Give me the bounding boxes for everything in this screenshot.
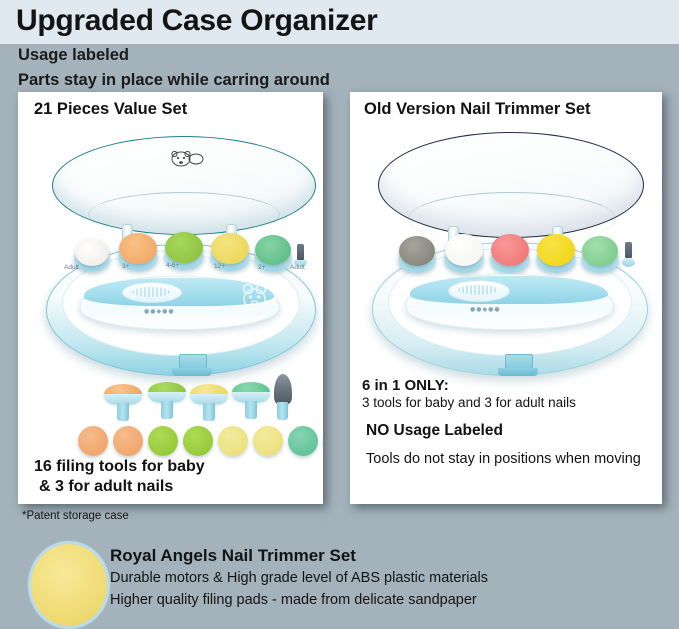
handpiece-brand-mark: ●●◆●● bbox=[144, 308, 175, 315]
right-caption-line-2: 3 tools for baby and 3 for adult nails bbox=[362, 395, 576, 410]
right-caption-line-3: NO Usage Labeled bbox=[366, 422, 503, 440]
pad-label-3: 12+ bbox=[214, 263, 225, 270]
right-caption-line-1: 6 in 1 ONLY: bbox=[362, 377, 449, 394]
handpiece-brand-mark: ●●◆●● bbox=[470, 306, 501, 313]
tray-pad-pink bbox=[491, 234, 529, 266]
tray-pad-white bbox=[445, 234, 483, 266]
left-caption-line-1: 16 filing tools for baby bbox=[34, 458, 205, 476]
page-title: Upgraded Case Organizer bbox=[16, 4, 378, 38]
banner-filing-pad bbox=[28, 541, 110, 629]
metal-bit bbox=[297, 244, 304, 260]
case-latch-tab bbox=[172, 368, 212, 376]
cone-bit-head bbox=[274, 374, 292, 404]
tool-stem bbox=[161, 401, 173, 419]
pad-label-4: 2+ bbox=[258, 264, 265, 271]
tray-pad-gray bbox=[399, 236, 435, 266]
button-grill bbox=[132, 287, 170, 297]
flat-pad-green-1 bbox=[148, 426, 178, 456]
old-version-case-illustration: ●●◆●● bbox=[350, 92, 662, 504]
subheader-line-2: Parts stay in place while carring around bbox=[18, 71, 330, 90]
flat-pad-yellow-1 bbox=[218, 426, 248, 456]
flat-pad-yellow-2 bbox=[253, 426, 283, 456]
flat-pad-green-2 bbox=[183, 426, 213, 456]
upgraded-case-illustration: Adult 3+ 4-6+ 12+ 2+ Adult ●●◆●● bbox=[18, 92, 323, 504]
tool-stem bbox=[245, 401, 257, 419]
banner-line-1: Durable motors & High grade level of ABS… bbox=[110, 570, 488, 586]
pad-label-2: 4-6+ bbox=[166, 262, 179, 269]
subheader-line-1: Usage labeled bbox=[18, 46, 129, 65]
patent-footnote: *Patent storage case bbox=[22, 510, 129, 522]
bit-base bbox=[622, 258, 635, 267]
banner-line-2: Higher quality filing pads - made from d… bbox=[110, 592, 477, 608]
product-comparison-image: Upgraded Case Organizer Usage labeled Pa… bbox=[0, 0, 679, 629]
tray-pad-teal bbox=[255, 235, 291, 265]
tray-pad-orange bbox=[119, 233, 157, 264]
tool-stem bbox=[117, 403, 129, 421]
tray-pad-green bbox=[165, 232, 203, 263]
pad-label-0: Adult bbox=[64, 264, 79, 271]
bear-emblem-icon bbox=[238, 280, 272, 314]
metal-bit bbox=[625, 242, 632, 258]
button-grill bbox=[458, 285, 498, 295]
left-caption-line-2: & 3 for adult nails bbox=[39, 478, 173, 496]
tool-stem bbox=[277, 402, 288, 420]
tray-pad-white bbox=[75, 238, 109, 266]
flat-pad-orange-2 bbox=[113, 426, 143, 456]
pad-label-1: 3+ bbox=[122, 263, 129, 270]
tray-pad-yellow bbox=[211, 233, 249, 264]
flat-pad-orange-1 bbox=[78, 426, 108, 456]
right-caption-line-4: Tools do not stay in positions when movi… bbox=[366, 451, 641, 467]
bear-logo-icon bbox=[168, 148, 204, 170]
flat-pad-teal-1 bbox=[288, 426, 318, 456]
right-product-panel: Old Version Nail Trimmer Set bbox=[350, 92, 662, 504]
case-latch-tab bbox=[498, 368, 538, 376]
pad-label-5: Adult bbox=[290, 264, 305, 271]
tray-pad-green bbox=[582, 236, 618, 266]
tool-stem bbox=[203, 403, 215, 421]
banner-title: Royal Angels Nail Trimmer Set bbox=[110, 546, 356, 566]
tray-pad-yellow bbox=[537, 234, 575, 266]
lid-crease bbox=[88, 192, 280, 237]
left-product-panel: 21 Pieces Value Set bbox=[18, 92, 323, 504]
